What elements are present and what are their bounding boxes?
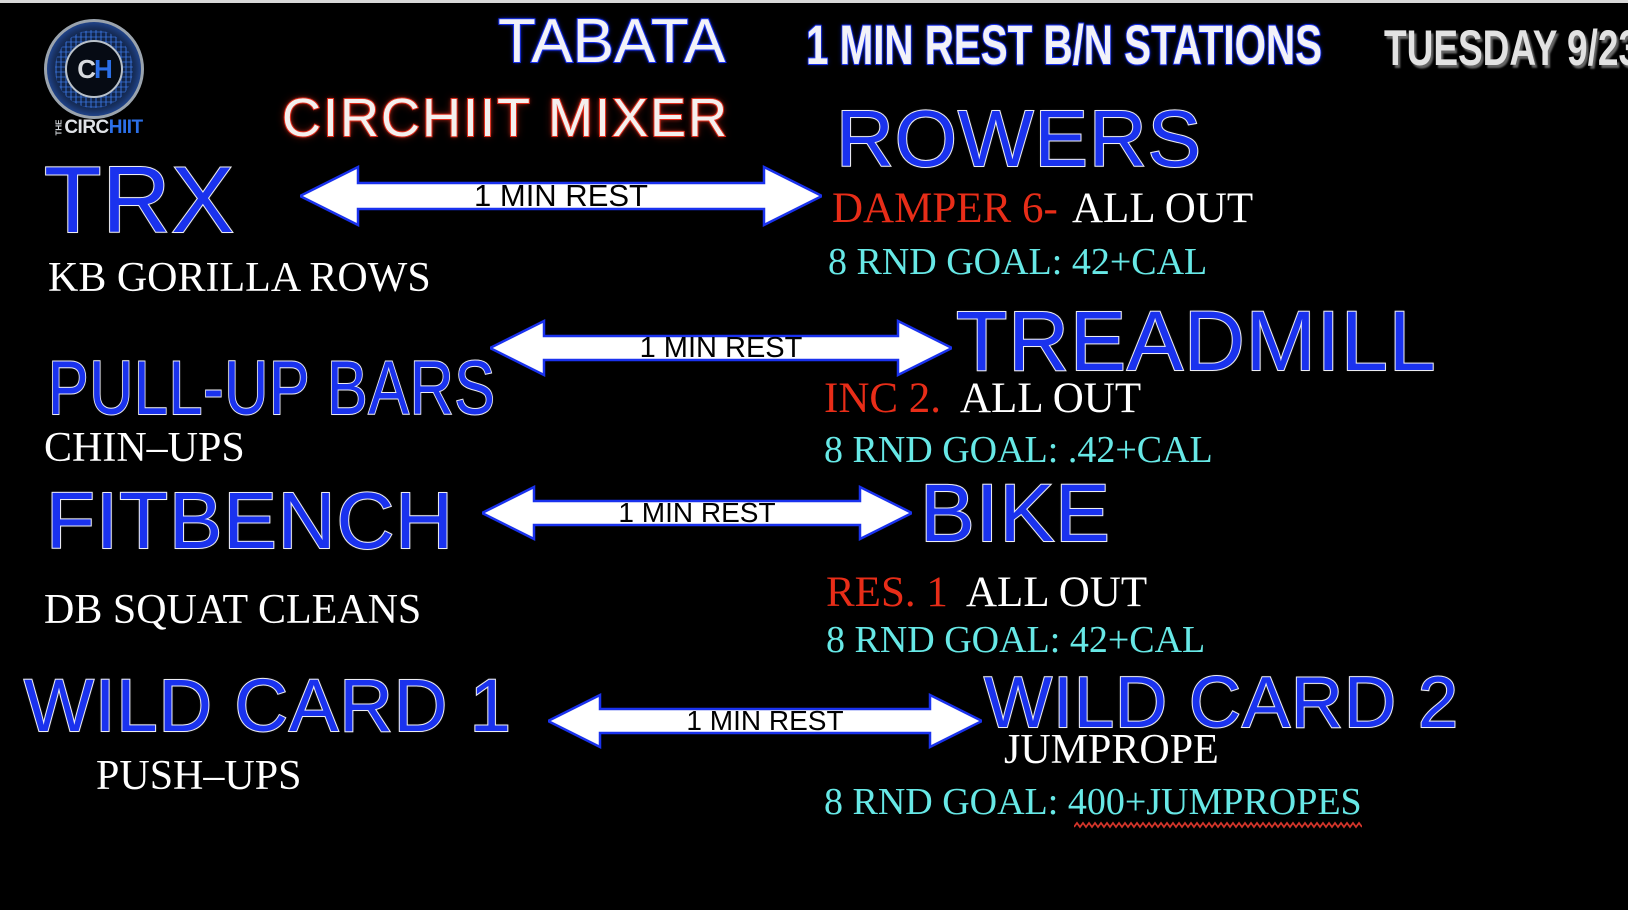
- station-setting-bike: RES. 1: [826, 571, 948, 614]
- station-effort-treadmill: ALL OUT: [960, 377, 1141, 420]
- station-title-fitbench: FITBENCH: [46, 481, 454, 561]
- logo-wordmark: THECIRCHIIT: [38, 117, 156, 139]
- station-exercise-fitbench: DB SQUAT CLEANS: [44, 589, 421, 631]
- station-effort-bike: ALL OUT: [966, 571, 1147, 614]
- station-title-bike: BIKE: [920, 473, 1111, 555]
- station-title-pullup-bars: PULL-UP BARS: [48, 351, 496, 427]
- station-setting-rowers: DAMPER 6-: [832, 187, 1058, 230]
- station-exercise-wild-card-1: PUSH–UPS: [96, 755, 301, 797]
- connector-arrow-4: 1 MIN REST: [548, 693, 982, 749]
- station-exercise-pullup-bars: CHIN–UPS: [44, 427, 245, 469]
- station-effort-wild-card-2: JUMPROPE: [1004, 729, 1219, 771]
- logo-monogram-h: H: [94, 54, 111, 85]
- logo-monogram: CH: [65, 40, 123, 98]
- station-exercise-trx: KB GORILLA ROWS: [48, 257, 431, 299]
- connector-arrow-1: 1 MIN REST: [300, 165, 822, 227]
- station-effort-rowers: ALL OUT: [1072, 187, 1253, 230]
- station-goal-bike: 8 RND GOAL: 42+CAL: [826, 621, 1205, 659]
- station-goal-wild-card-2: 8 RND GOAL: 400+JUMPROPES: [824, 783, 1362, 821]
- spellcheck-squiggle-underline: [1074, 817, 1362, 827]
- logo-monogram-c: C: [77, 54, 94, 85]
- header-tabata: TABATA: [498, 11, 725, 73]
- logo-wordmark-hiit: HIIT: [109, 117, 143, 138]
- logo-wordmark-the: THE: [55, 120, 64, 136]
- station-setting-treadmill: INC 2.: [824, 377, 941, 420]
- circhiit-logo: CH THECIRCHIIT: [38, 17, 156, 135]
- station-title-wild-card-1: WILD CARD 1: [24, 669, 512, 743]
- workout-whiteboard: CH THECIRCHIIT TABATA 1 MIN REST B/N STA…: [0, 0, 1628, 910]
- logo-wordmark-circ: CIRC: [64, 117, 108, 138]
- station-goal-rowers: 8 RND GOAL: 42+CAL: [828, 243, 1207, 281]
- connector-arrow-2: 1 MIN REST: [490, 319, 952, 377]
- station-title-treadmill: TREADMILL: [956, 299, 1436, 383]
- header-date: TUESDAY 9/23: [1384, 23, 1628, 73]
- header-mixer-title: CIRCHIIT MIXER: [282, 91, 729, 145]
- station-title-rowers: ROWERS: [836, 99, 1202, 179]
- header-rest-between-stations: 1 MIN REST B/N STATIONS: [806, 17, 1322, 73]
- connector-arrow-3: 1 MIN REST: [482, 485, 912, 541]
- station-goal-treadmill: 8 RND GOAL: .42+CAL: [824, 431, 1213, 469]
- station-title-trx: TRX: [44, 153, 235, 247]
